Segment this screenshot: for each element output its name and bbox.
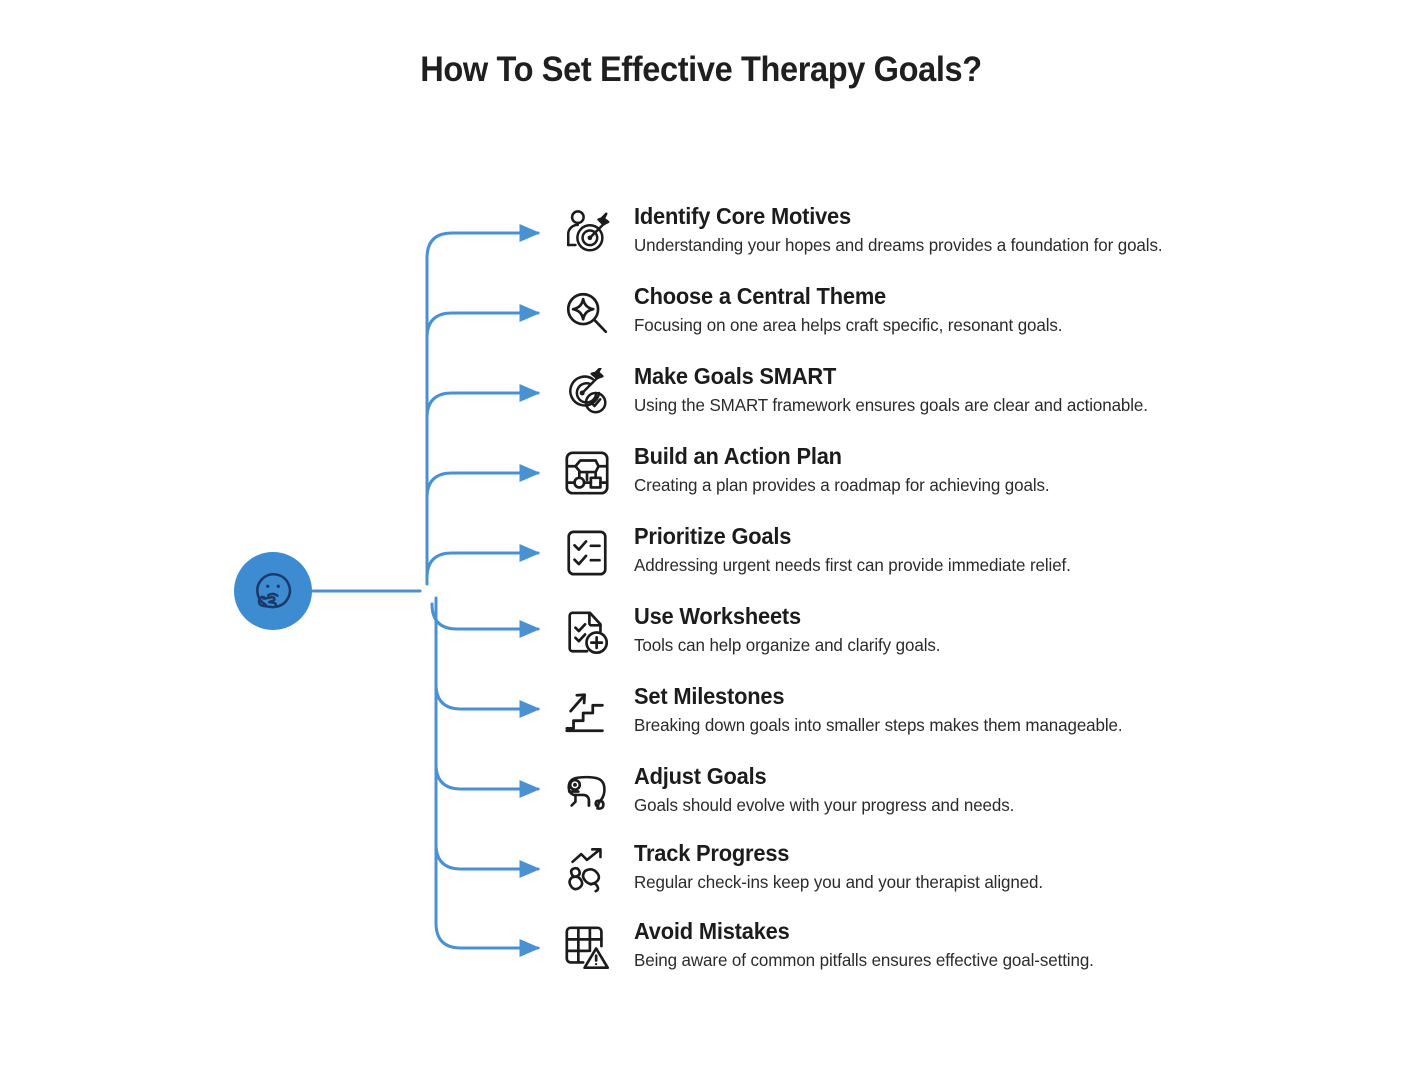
branch-item-build-an-action-plan[interactable]: Build an Action Plan Creating a plan pro… <box>562 443 1362 501</box>
branch-item-track-progress[interactable]: Track Progress Regular check-ins keep yo… <box>562 840 1362 898</box>
branch-description: Creating a plan provides a roadmap for a… <box>634 474 1050 497</box>
branch-title: Prioritize Goals <box>634 523 1062 550</box>
branch-title: Build an Action Plan <box>634 443 1041 470</box>
footprints-arrow-icon <box>562 840 620 898</box>
branch-item-identify-core-motives[interactable]: Identify Core Motives Understanding your… <box>562 203 1362 261</box>
infographic-canvas: How To Set Effective Therapy Goals? <box>0 0 1402 1086</box>
branch-text-block: Prioritize Goals Addressing urgent needs… <box>620 523 1084 577</box>
connector-branch-8 <box>436 764 538 789</box>
branch-text-block: Make Goals SMART Using the SMART framewo… <box>620 363 1164 417</box>
connector-branch-6 <box>432 604 538 629</box>
branch-description: Using the SMART framework ensures goals … <box>634 394 1148 417</box>
branch-item-prioritize-goals[interactable]: Prioritize Goals Addressing urgent needs… <box>562 523 1362 581</box>
branch-description: Focusing on one area helps craft specifi… <box>634 314 1062 337</box>
connector-branch-3 <box>427 393 538 418</box>
branch-description: Tools can help organize and clarify goal… <box>634 634 940 657</box>
branch-title: Make Goals SMART <box>634 363 1137 390</box>
branch-title: Adjust Goals <box>634 763 1006 790</box>
connector-trunk-upper <box>427 233 452 584</box>
central-node[interactable] <box>234 552 312 630</box>
branch-text-block: Track Progress Regular check-ins keep yo… <box>620 840 1056 894</box>
person-target-icon <box>562 203 620 261</box>
branch-text-block: Build an Action Plan Creating a plan pro… <box>620 443 1062 497</box>
branch-text-block: Identify Core Motives Understanding your… <box>620 203 1179 257</box>
branch-title: Choose a Central Theme <box>634 283 1054 310</box>
branch-description: Breaking down goals into smaller steps m… <box>634 714 1123 737</box>
stairs-arrow-icon <box>562 683 620 741</box>
document-check-plus-icon <box>562 603 620 661</box>
thinking-face-icon <box>250 568 296 614</box>
branch-text-block: Set Milestones Breaking down goals into … <box>620 683 1138 737</box>
branch-description: Understanding your hopes and dreams prov… <box>634 234 1162 257</box>
branch-item-adjust-goals[interactable]: Adjust Goals Goals should evolve with yo… <box>562 763 1362 821</box>
branch-item-make-goals-smart[interactable]: Make Goals SMART Using the SMART framewo… <box>562 363 1362 421</box>
chameleon-icon <box>562 763 620 821</box>
branch-text-block: Use Worksheets Tools can help organize a… <box>620 603 950 657</box>
page-title: How To Set Effective Therapy Goals? <box>49 50 1353 90</box>
branch-description: Addressing urgent needs first can provid… <box>634 554 1071 577</box>
connector-branch-2 <box>427 313 538 338</box>
branch-item-set-milestones[interactable]: Set Milestones Breaking down goals into … <box>562 683 1362 741</box>
connector-branch-4 <box>427 473 538 498</box>
branch-item-choose-a-central-theme[interactable]: Choose a Central Theme Focusing on one a… <box>562 283 1362 341</box>
connector-trunk-lower <box>436 598 461 948</box>
connector-branch-5 <box>427 553 538 578</box>
grid-warning-icon <box>562 918 620 976</box>
magnifier-star-icon <box>562 283 620 341</box>
branch-title: Set Milestones <box>634 683 1112 710</box>
branch-title: Use Worksheets <box>634 603 934 630</box>
branch-item-use-worksheets[interactable]: Use Worksheets Tools can help organize a… <box>562 603 1362 661</box>
branch-text-block: Choose a Central Theme Focusing on one a… <box>620 283 1076 337</box>
branch-item-avoid-mistakes[interactable]: Avoid Mistakes Being aware of common pit… <box>562 918 1362 976</box>
checklist-icon <box>562 523 620 581</box>
branch-text-block: Adjust Goals Goals should evolve with yo… <box>620 763 1026 817</box>
branch-description: Being aware of common pitfalls ensures e… <box>634 949 1094 972</box>
branch-text-block: Avoid Mistakes Being aware of common pit… <box>620 918 1108 972</box>
target-arrow-check-icon <box>562 363 620 421</box>
branch-description: Regular check-ins keep you and your ther… <box>634 871 1043 894</box>
branch-description: Goals should evolve with your progress a… <box>634 794 1014 817</box>
branch-title: Identify Core Motives <box>634 203 1152 230</box>
flowchart-icon <box>562 443 620 501</box>
branch-title: Avoid Mistakes <box>634 918 1084 945</box>
branch-title: Track Progress <box>634 840 1035 867</box>
connector-branch-9 <box>436 844 538 869</box>
connector-branch-7 <box>436 684 538 709</box>
